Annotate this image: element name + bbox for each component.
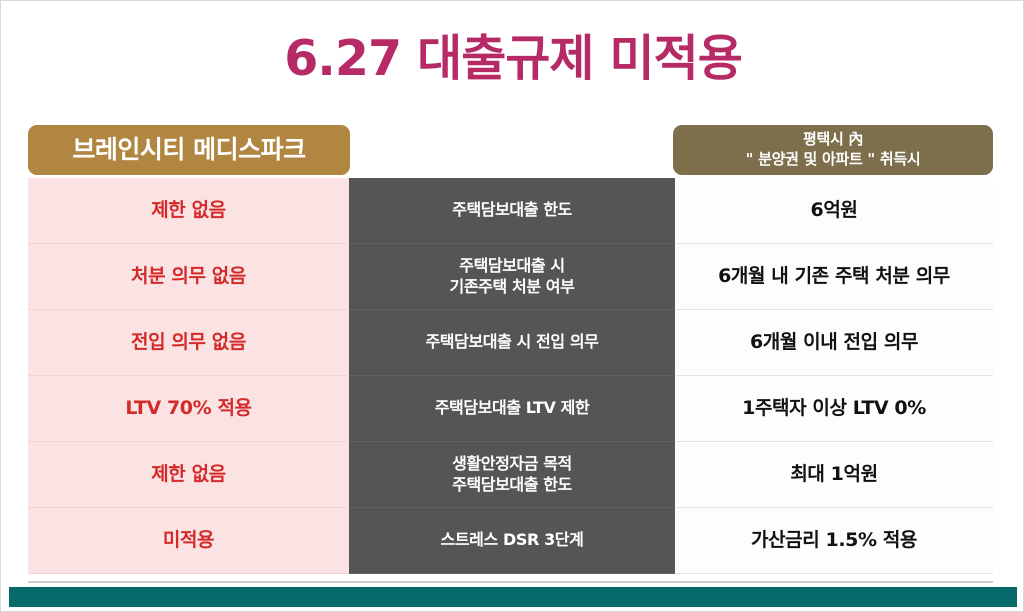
cell-middle-line1: 생활안정자금 목적 (452, 454, 572, 474)
bottom-accent-bar (9, 587, 1017, 607)
column-header-left: 브레인시티 메디스파크 (28, 125, 350, 175)
cell-middle-line1: 주택담보대출 한도 (452, 200, 572, 220)
table-row: LTV 70% 적용 주택담보대출 LTV 제한 1주택자 이상 LTV 0% (28, 376, 993, 442)
cell-left: LTV 70% 적용 (28, 376, 349, 442)
table-row: 제한 없음 생활안정자금 목적 주택담보대출 한도 최대 1억원 (28, 442, 993, 508)
cell-right: 최대 1억원 (675, 442, 993, 508)
cell-right: 6개월 이내 전입 의무 (675, 310, 993, 376)
cell-middle: 주택담보대출 한도 (349, 178, 675, 244)
cell-left-line1: LTV 70% 적용 (125, 397, 251, 421)
cell-right: 6개월 내 기존 주택 처분 의무 (675, 244, 993, 310)
cell-right-line1: 최대 1억원 (790, 463, 877, 487)
cell-middle: 주택담보대출 시 기존주택 처분 여부 (349, 244, 675, 310)
cell-left: 전입 의무 없음 (28, 310, 349, 376)
cell-left: 제한 없음 (28, 442, 349, 508)
cell-left: 제한 없음 (28, 178, 349, 244)
cell-right: 6억원 (675, 178, 993, 244)
column-header-right-line2: " 분양권 및 아파트 " 취득시 (746, 151, 921, 169)
table-row: 미적용 스트레스 DSR 3단계 가산금리 1.5% 적용 (28, 508, 993, 574)
cell-right-line1: 1주택자 이상 LTV 0% (742, 397, 926, 421)
cell-left-line1: 제한 없음 (151, 199, 226, 223)
cell-right-line1: 6개월 이내 전입 의무 (750, 331, 918, 355)
cell-middle: 생활안정자금 목적 주택담보대출 한도 (349, 442, 675, 508)
cell-right-line1: 6개월 내 기존 주택 처분 의무 (718, 265, 950, 289)
column-header-right-line1: 평택시 內 (803, 131, 863, 149)
cell-middle-line2: 주택담보대출 한도 (452, 475, 572, 495)
cell-left-line1: 미적용 (163, 529, 214, 553)
cell-left-line1: 처분 의무 없음 (131, 265, 246, 289)
slide-canvas: 6.27 대출규제 미적용 브레인시티 메디스파크 평택시 內 " 분양권 및 … (0, 0, 1024, 612)
cell-right: 가산금리 1.5% 적용 (675, 508, 993, 574)
table-row: 제한 없음 주택담보대출 한도 6억원 (28, 178, 993, 244)
cell-right-line1: 6억원 (811, 199, 858, 223)
column-header-left-label: 브레인시티 메디스파크 (72, 135, 305, 165)
bottom-divider (28, 581, 993, 583)
comparison-table: 제한 없음 주택담보대출 한도 6억원 처분 의무 없음 주택담보대출 시 기존… (28, 178, 993, 578)
cell-left-line1: 전입 의무 없음 (131, 331, 246, 355)
table-header-band: 브레인시티 메디스파크 평택시 內 " 분양권 및 아파트 " 취득시 (1, 125, 1024, 177)
table-row: 처분 의무 없음 주택담보대출 시 기존주택 처분 여부 6개월 내 기존 주택… (28, 244, 993, 310)
cell-left: 미적용 (28, 508, 349, 574)
table-row: 전입 의무 없음 주택담보대출 시 전입 의무 6개월 이내 전입 의무 (28, 310, 993, 376)
cell-left: 처분 의무 없음 (28, 244, 349, 310)
cell-right: 1주택자 이상 LTV 0% (675, 376, 993, 442)
cell-left-line1: 제한 없음 (151, 463, 226, 487)
cell-middle-line2: 기존주택 처분 여부 (450, 277, 575, 297)
cell-middle-line1: 스트레스 DSR 3단계 (441, 530, 584, 550)
cell-middle-line1: 주택담보대출 LTV 제한 (435, 398, 590, 418)
page-title: 6.27 대출규제 미적용 (1, 19, 1024, 90)
column-header-right: 평택시 內 " 분양권 및 아파트 " 취득시 (673, 125, 993, 175)
cell-middle-line1: 주택담보대출 시 (459, 256, 564, 276)
cell-middle: 주택담보대출 시 전입 의무 (349, 310, 675, 376)
cell-middle: 주택담보대출 LTV 제한 (349, 376, 675, 442)
cell-middle: 스트레스 DSR 3단계 (349, 508, 675, 574)
cell-middle-line1: 주택담보대출 시 전입 의무 (425, 332, 598, 352)
cell-right-line1: 가산금리 1.5% 적용 (751, 529, 917, 553)
